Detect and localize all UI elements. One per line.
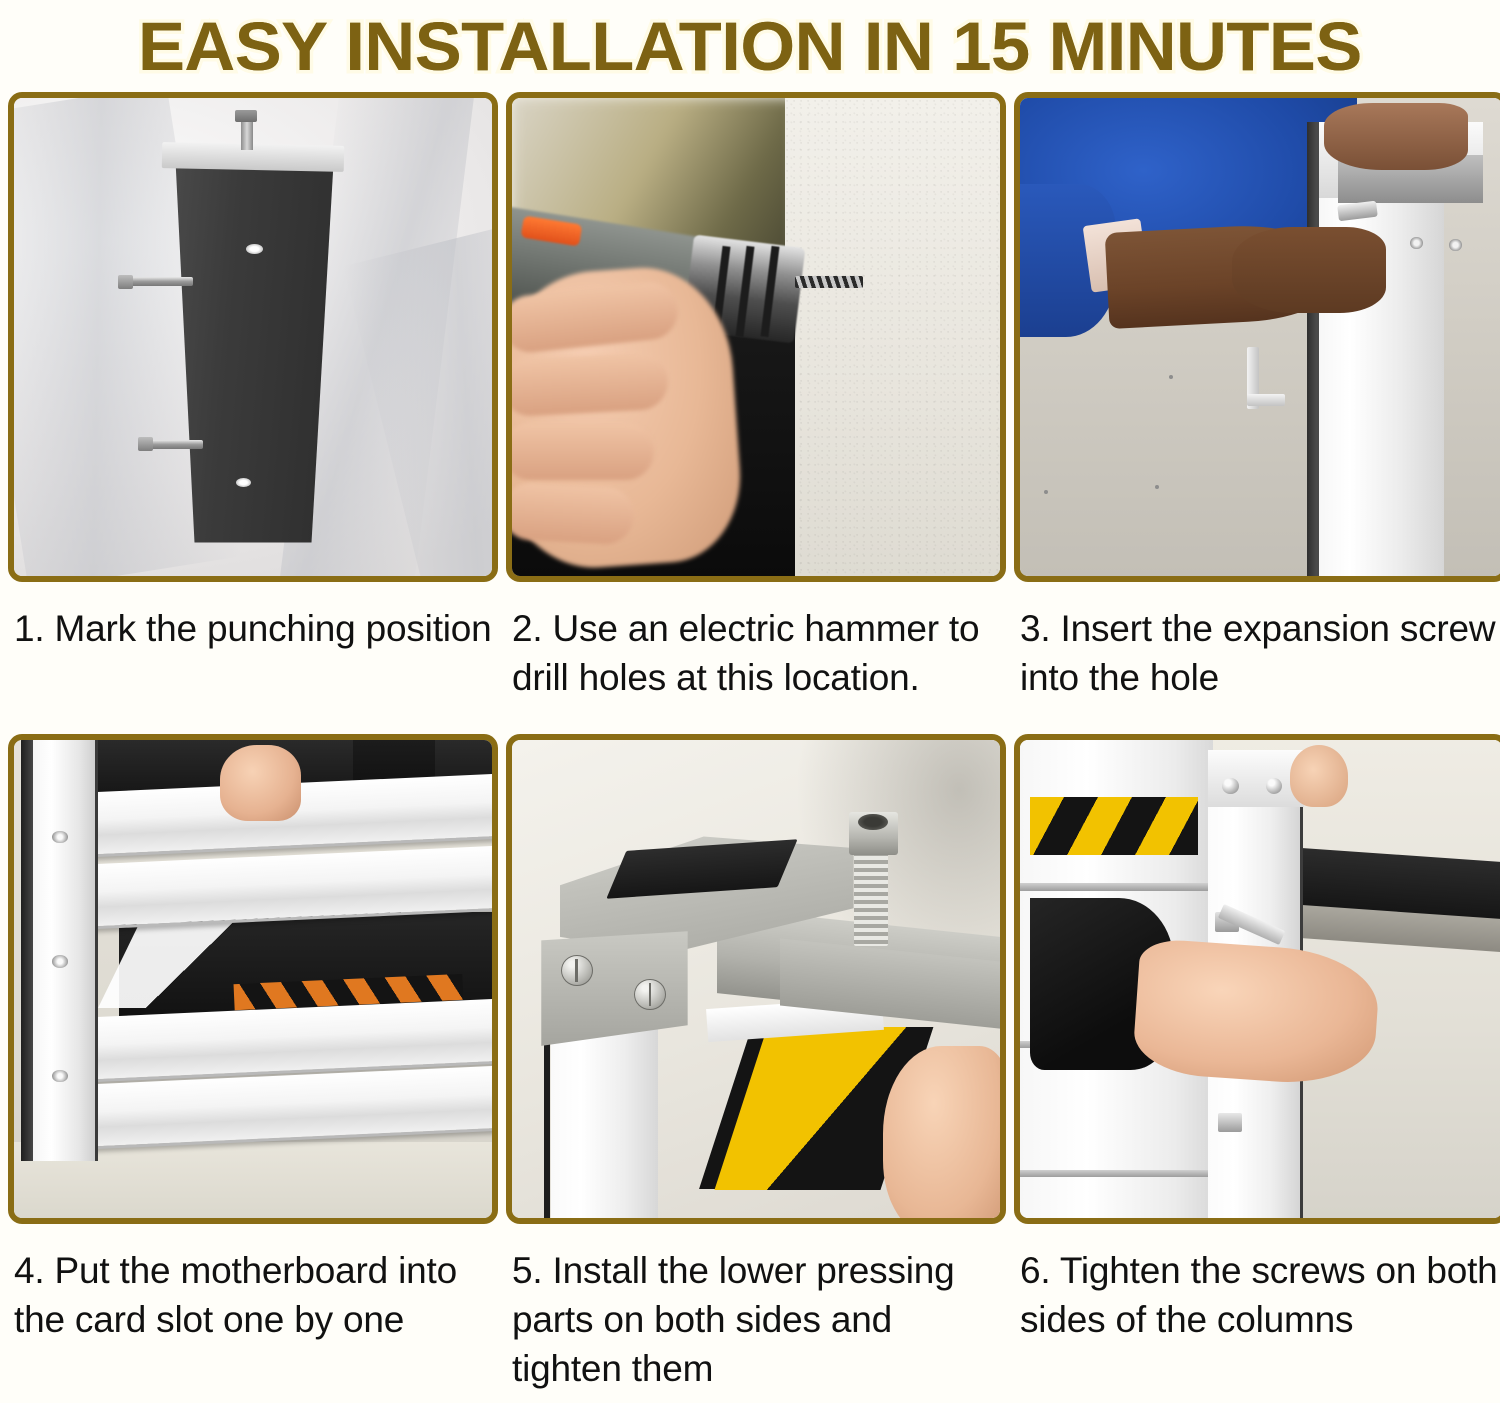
step-2-photo-frame — [506, 92, 1006, 582]
step-4-photo-frame — [8, 734, 498, 1224]
step-5-caption: 5. Install the lower pressing parts on b… — [506, 1224, 1006, 1396]
step-6-photo-frame — [1014, 734, 1500, 1224]
step-3: 3. Insert the expansion screw into the h… — [1014, 92, 1500, 734]
installation-steps-grid: 1. Mark the punching position — [0, 92, 1500, 1396]
step-6-image — [1020, 740, 1500, 1218]
step-1-image — [14, 98, 492, 576]
step-1-caption: 1. Mark the punching position — [8, 582, 498, 734]
step-3-caption: 3. Insert the expansion screw into the h… — [1014, 582, 1500, 734]
step-2: 2. Use an electric hammer to drill holes… — [506, 92, 1006, 734]
step-5: 5. Install the lower pressing parts on b… — [506, 734, 1006, 1396]
step-6: 6. Tighten the screws on both sides of t… — [1014, 734, 1500, 1396]
step-3-photo-frame — [1014, 92, 1500, 582]
step-2-image — [512, 98, 1000, 576]
step-4-caption: 4. Put the motherboard into the card slo… — [8, 1224, 498, 1396]
step-4: 4. Put the motherboard into the card slo… — [8, 734, 498, 1396]
step-4-image — [14, 740, 492, 1218]
step-5-photo-frame — [506, 734, 1006, 1224]
step-6-caption: 6. Tighten the screws on both sides of t… — [1014, 1224, 1500, 1396]
title-banner: EASY INSTALLATION IN 15 MINUTES — [0, 0, 1500, 92]
page-title: EASY INSTALLATION IN 15 MINUTES — [138, 7, 1362, 86]
step-1: 1. Mark the punching position — [8, 92, 498, 734]
step-1-photo-frame — [8, 92, 498, 582]
step-3-image — [1020, 98, 1500, 576]
step-5-image — [512, 740, 1000, 1218]
step-2-caption: 2. Use an electric hammer to drill holes… — [506, 582, 1006, 734]
